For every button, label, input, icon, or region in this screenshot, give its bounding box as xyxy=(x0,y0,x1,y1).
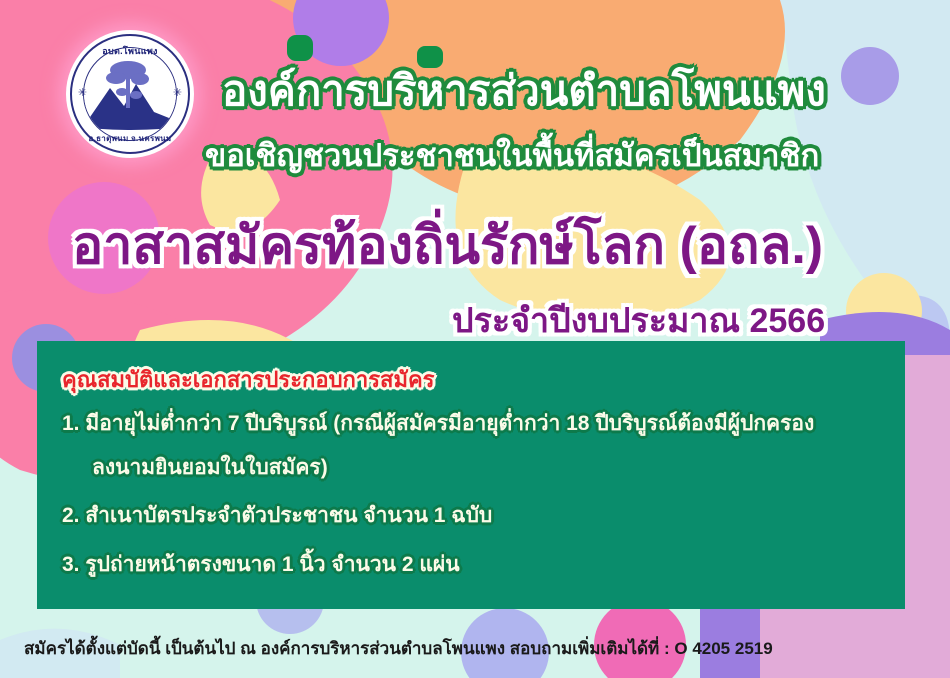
logo-emblem-icon xyxy=(84,48,177,141)
organization-logo: อบต.โพนแพง อ.ธาตุพนม จ.นครพนม ✳ ✳ xyxy=(66,30,194,158)
logo-inner-ring xyxy=(83,47,177,141)
compass-star-left-icon: ✳ xyxy=(77,88,88,99)
program-title: อาสาสมัครท้องถิ่นรักษ์โลก (อถล.) xyxy=(72,203,823,286)
invitation-subheading: ขอเชิญชวนประชาชนในพื้นที่สมัครเป็นสมาชิก xyxy=(205,130,819,180)
requirements-panel: คุณสมบัติและเอกสารประกอบการสมัคร 1. มีอา… xyxy=(37,341,905,609)
logo-top-label: อบต.โพนแพง xyxy=(66,44,194,58)
footer-contact-text: สมัครได้ตั้งแต่บัดนี้ เป็นต้นไป ณ องค์กา… xyxy=(24,635,773,662)
requirement-item-2: 2. สำเนาบัตรประจำตัวประชาชน จำนวน 1 ฉบับ xyxy=(62,499,492,532)
requirement-item-1-line1: 1. มีอายุไม่ต่ำกว่า 7 ปีบริบูรณ์ (กรณีผู… xyxy=(62,407,814,440)
poster-canvas: อบต.โพนแพง อ.ธาตุพนม จ.นครพนม ✳ ✳ องค์กา… xyxy=(0,0,950,678)
logo-bottom-label: อ.ธาตุพนม จ.นครพนม xyxy=(66,132,194,145)
fiscal-year-label: ประจำปีงบประมาณ 2566 xyxy=(452,293,825,347)
requirements-heading: คุณสมบัติและเอกสารประกอบการสมัคร xyxy=(62,362,435,397)
requirement-item-3: 3. รูปถ่ายหน้าตรงขนาด 1 นิ้ว จำนวน 2 แผ่… xyxy=(62,548,460,581)
compass-star-right-icon: ✳ xyxy=(172,88,183,99)
organization-name-heading: องค์การบริหารส่วนตำบลโพนแพง xyxy=(222,58,826,124)
requirement-item-1-line2: ลงนามยินยอมในใบสมัคร) xyxy=(92,451,328,484)
